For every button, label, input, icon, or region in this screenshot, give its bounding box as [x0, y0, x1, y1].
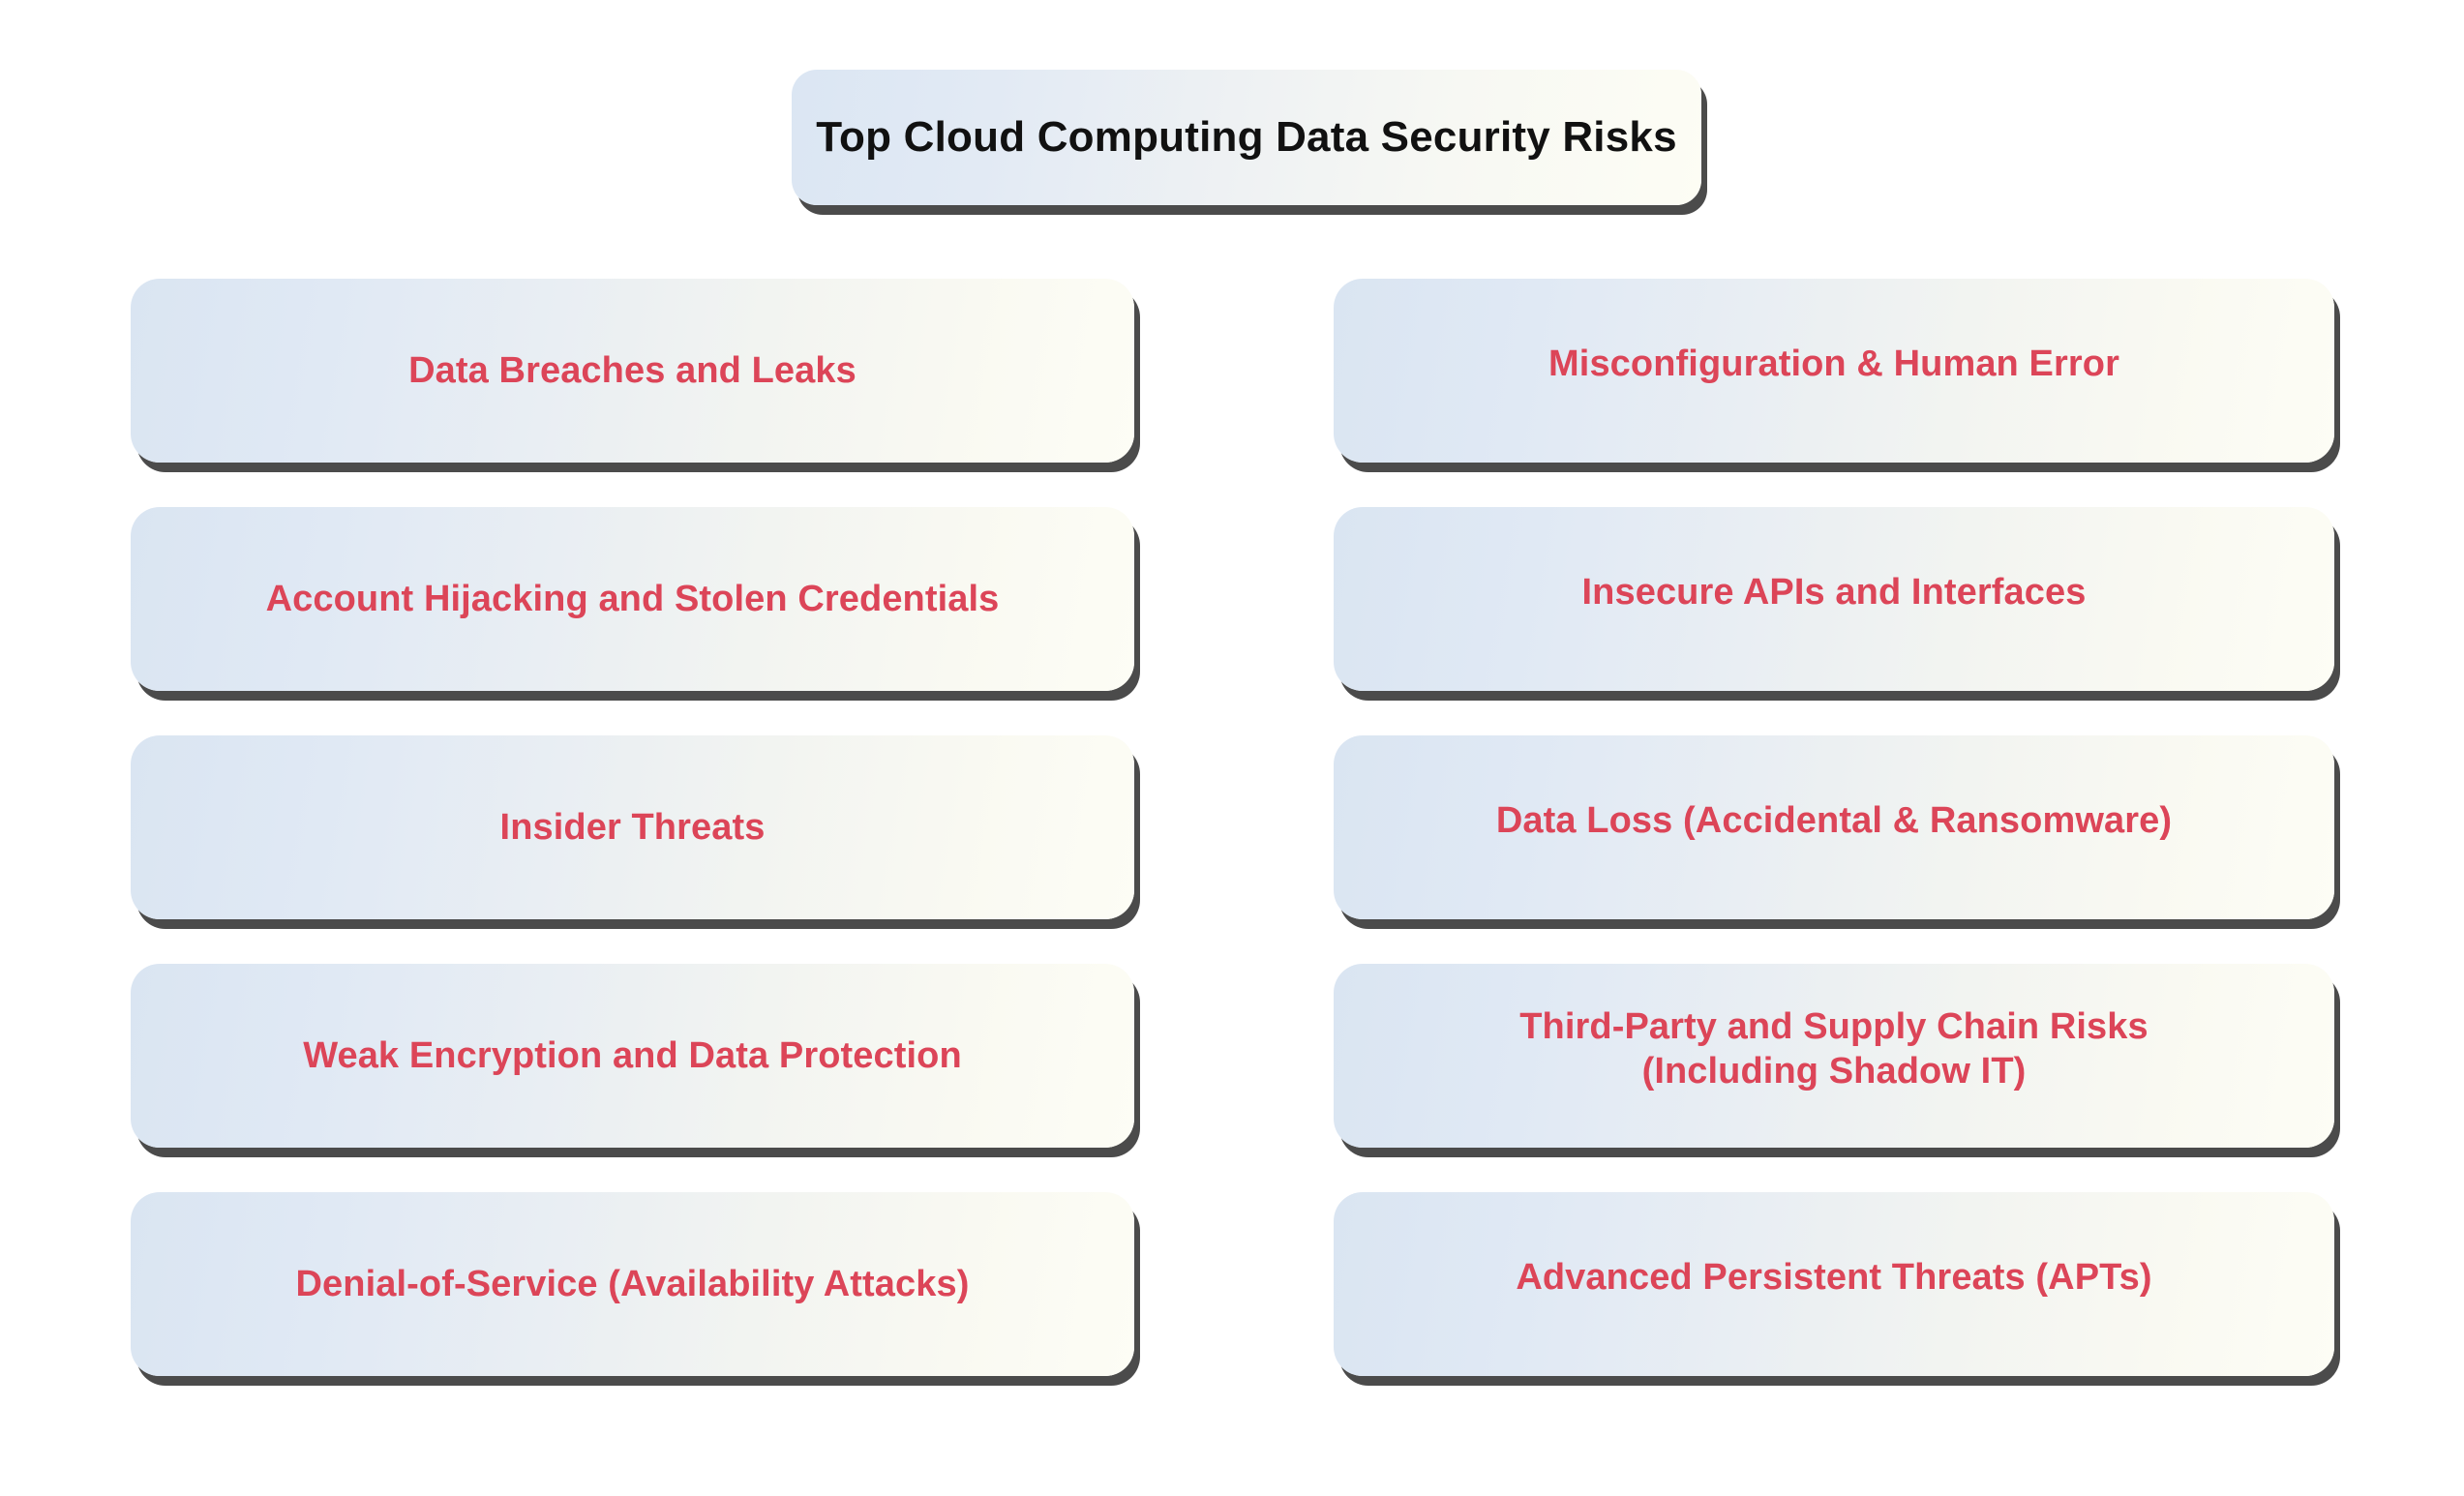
risk-card-right-4[interactable]: Third-Party and Supply Chain Risks (Incl…: [1334, 964, 2334, 1148]
risk-card-left-1[interactable]: Data Breaches and Leaks: [131, 279, 1134, 463]
risk-card-right-5[interactable]: Advanced Persistent Threats (APTs): [1334, 1192, 2334, 1376]
risk-card-left-5[interactable]: Denial-of-Service (Availability Attacks): [131, 1192, 1134, 1376]
right-column: Misconfiguration & Human Error Insecure …: [1334, 279, 2334, 1421]
risk-card-label: Third-Party and Supply Chain Risks (Incl…: [1519, 1004, 2148, 1094]
left-column: Data Breaches and Leaks Account Hijackin…: [131, 279, 1134, 1421]
infographic-root: Top Cloud Computing Data Security Risks …: [0, 0, 2464, 1496]
risk-card-label: Denial-of-Service (Availability Attacks): [296, 1262, 970, 1306]
risk-card-left-2[interactable]: Account Hijacking and Stolen Credentials: [131, 507, 1134, 691]
risk-card-label: Insecure APIs and Interfaces: [1582, 570, 2087, 614]
risk-card-label: Account Hijacking and Stolen Credentials: [266, 577, 1000, 621]
risk-card-label: Advanced Persistent Threats (APTs): [1516, 1255, 2151, 1300]
risk-card-label: Insider Threats: [500, 805, 766, 850]
risk-card-left-4[interactable]: Weak Encryption and Data Protection: [131, 964, 1134, 1148]
risk-card-right-3[interactable]: Data Loss (Accidental & Ransomware): [1334, 735, 2334, 919]
risk-card-label: Weak Encryption and Data Protection: [303, 1033, 962, 1078]
risk-card-label: Data Breaches and Leaks: [408, 348, 856, 393]
risk-card-left-3[interactable]: Insider Threats: [131, 735, 1134, 919]
risk-card-label: Data Loss (Accidental & Ransomware): [1496, 798, 2172, 843]
cards-columns: Data Breaches and Leaks Account Hijackin…: [0, 0, 2464, 1496]
risk-card-label: Misconfiguration & Human Error: [1548, 342, 2119, 386]
risk-card-right-2[interactable]: Insecure APIs and Interfaces: [1334, 507, 2334, 691]
risk-card-right-1[interactable]: Misconfiguration & Human Error: [1334, 279, 2334, 463]
